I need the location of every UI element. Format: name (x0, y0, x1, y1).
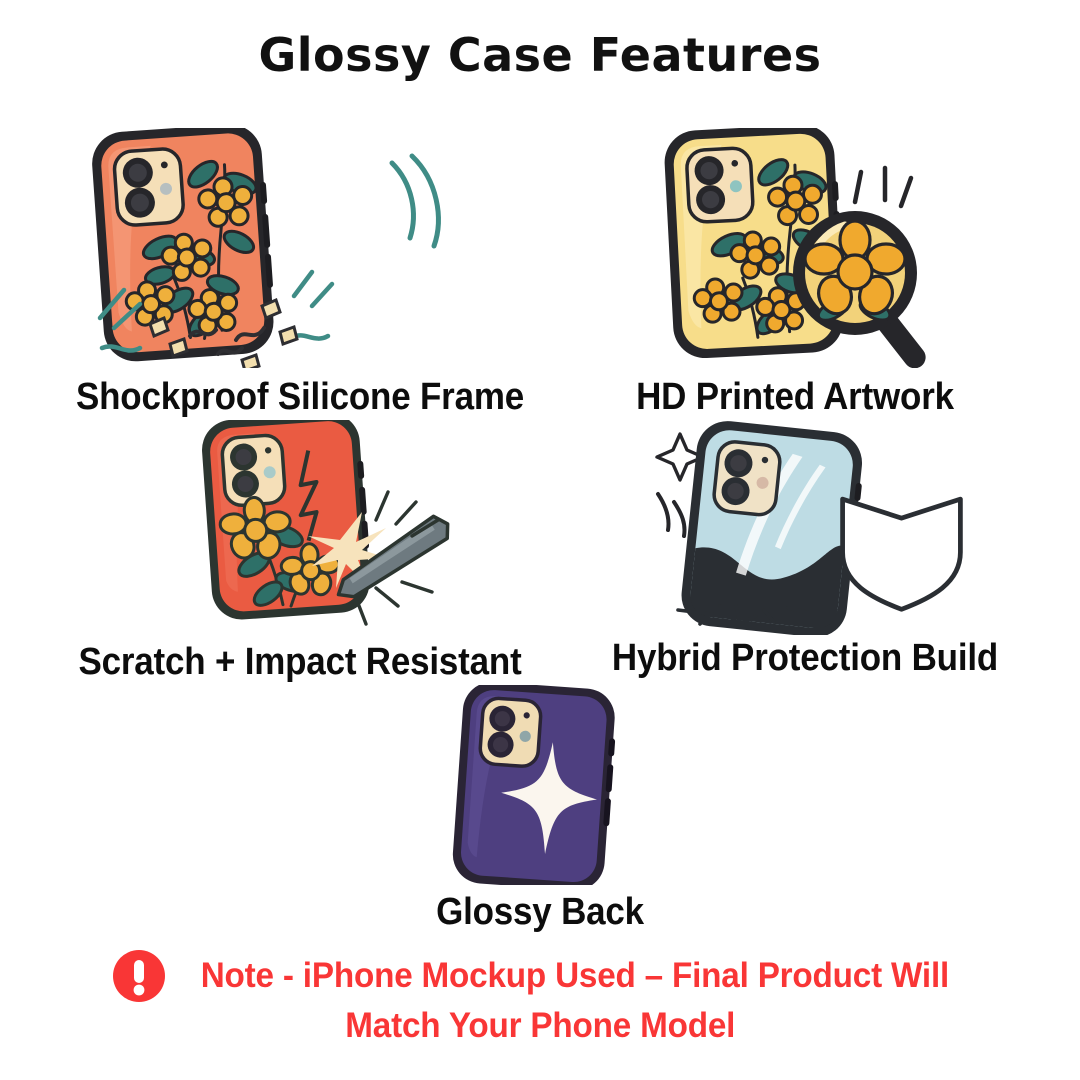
phone-case-gloss-sparkle-icon (280, 685, 800, 885)
note-text-line-1: Note - iPhone Mockup Used – Final Produc… (201, 956, 949, 996)
feature-label-scratch-impact: Scratch + Impact Resistant (61, 641, 539, 684)
phone-case-magnifier-icon (545, 128, 1045, 368)
page-title: Glossy Case Features (0, 28, 1080, 82)
note-text-line-2: Match Your Phone Model (345, 1006, 735, 1046)
exclamation-circle-icon (111, 948, 167, 1004)
phone-case-shock-impact-icon (40, 128, 560, 368)
note-line-1-row: Note - iPhone Mockup Used – Final Produc… (111, 948, 969, 1004)
feature-label-glossy-back: Glossy Back (301, 891, 779, 934)
feature-card-shockproof: Shockproof Silicone Frame (40, 128, 560, 419)
feature-label-hybrid-protection: Hybrid Protection Build (580, 637, 1031, 680)
feature-label-shockproof: Shockproof Silicone Frame (61, 376, 539, 419)
feature-card-scratch-impact: Scratch + Impact Resistant (40, 420, 560, 684)
feature-card-hybrid-protection: Hybrid Protection Build (560, 410, 1050, 680)
phone-case-shield-hybrid-icon (560, 410, 1050, 635)
feature-card-glossy-back: Glossy Back (280, 685, 800, 934)
feature-card-hd-print: HD Printed Artwork (545, 128, 1045, 419)
infographic-page: Glossy Case Features (0, 0, 1080, 1080)
phone-case-blade-scratch-icon (40, 420, 560, 635)
disclaimer-note: Note - iPhone Mockup Used – Final Produc… (0, 948, 1080, 1046)
